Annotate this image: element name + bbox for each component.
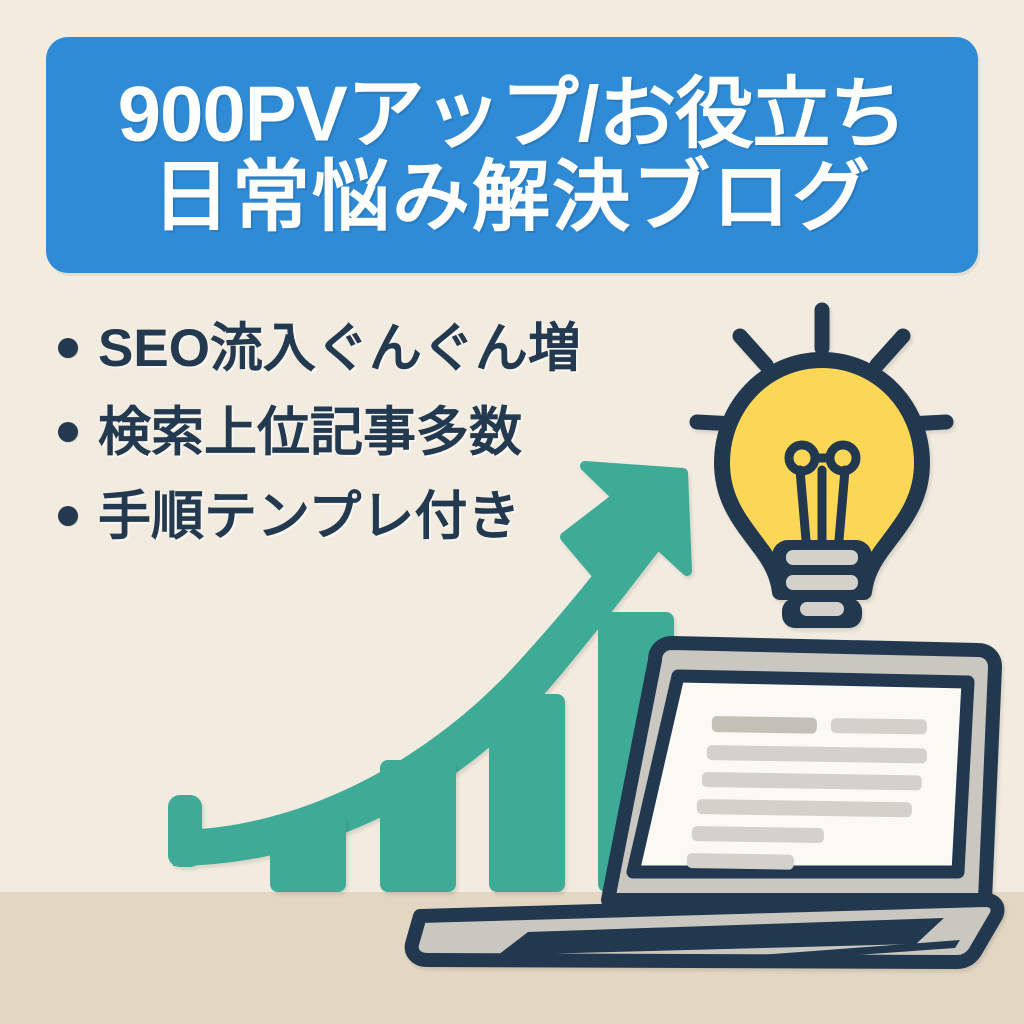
list-item: SEO流入ぐんぐん増 [58, 306, 678, 390]
bullet-dot-icon [58, 338, 78, 358]
bar-2 [380, 760, 456, 892]
bullet-label: 手順テンプレ付き [98, 490, 520, 543]
title-banner-inner: 900PVアップ/お役立ち 日常悩み解決ブログ [46, 72, 978, 237]
bullet-label: SEO流入ぐんぐん増 [98, 322, 581, 375]
title-banner: 900PVアップ/お役立ち 日常悩み解決ブログ [46, 37, 978, 273]
bar-1 [270, 815, 346, 892]
bullet-dot-icon [58, 506, 78, 526]
title-line-1: 900PVアップ/お役立ち [64, 72, 960, 155]
bullet-dot-icon [58, 422, 78, 442]
poster-canvas: 900PVアップ/お役立ち 日常悩み解決ブログ SEO流入ぐんぐん増 検索上位記… [0, 0, 1024, 1024]
bar-3 [489, 694, 565, 892]
feature-bullet-list: SEO流入ぐんぐん増 検索上位記事多数 手順テンプレ付き [58, 306, 678, 558]
bullet-label: 検索上位記事多数 [98, 406, 522, 459]
text-line [687, 853, 794, 870]
title-line-2: 日常悩み解決ブログ [64, 155, 960, 238]
list-item: 手順テンプレ付き [58, 474, 678, 558]
bulb-base [772, 540, 872, 628]
text-line [712, 716, 817, 734]
list-item: 検索上位記事多数 [58, 390, 678, 474]
text-line [831, 718, 927, 735]
text-line [692, 826, 824, 843]
